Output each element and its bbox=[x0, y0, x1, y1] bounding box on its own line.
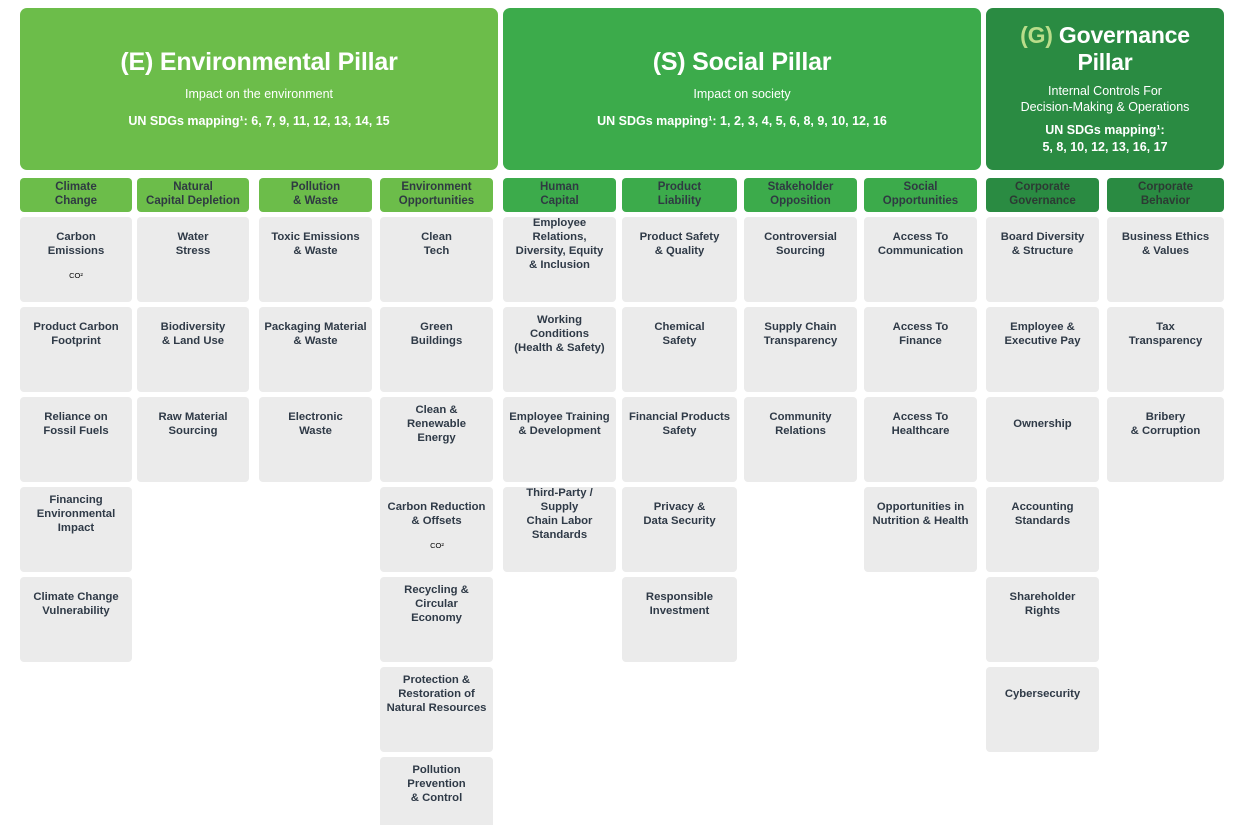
category-header-line: Environment bbox=[399, 181, 474, 195]
training-podium-icon bbox=[545, 441, 575, 471]
theme-cell[interactable]: Product Safety& Quality bbox=[622, 217, 737, 302]
pillar-banner-governance: (G) Governance Pillar Internal Controls … bbox=[986, 8, 1224, 170]
pillar-banners: (E) Environmental Pillar Impact on the e… bbox=[0, 0, 1243, 170]
e-waste-icon bbox=[301, 441, 331, 471]
document-list-icon bbox=[1028, 531, 1058, 561]
theme-label: Recycling & CircularEconomy bbox=[385, 583, 488, 625]
category-header[interactable]: CorporateGovernance bbox=[986, 178, 1099, 212]
cheque-pen-icon bbox=[1028, 351, 1058, 381]
mining-cart-icon bbox=[178, 441, 208, 471]
handshake-icon bbox=[665, 621, 695, 651]
theme-cell[interactable]: Business Ethics& Values bbox=[1107, 217, 1224, 302]
theme-label: Carbon Reduction& Offsets bbox=[388, 500, 486, 528]
category-column-product-liability: ProductLiabilityProduct Safety& QualityC… bbox=[622, 178, 737, 667]
theme-label-line: Chain Labor bbox=[508, 514, 611, 528]
plastic-bottle-icon bbox=[301, 351, 331, 381]
theme-cell[interactable]: ElectronicWaste bbox=[259, 397, 372, 482]
theme-label: Product Safety& Quality bbox=[640, 230, 720, 258]
category-header-line: Climate bbox=[55, 181, 97, 195]
theme-label: Employee &Executive Pay bbox=[1005, 320, 1081, 348]
theme-label-line: (Health & Safety) bbox=[508, 341, 611, 355]
theme-label-line: Product Carbon bbox=[33, 320, 118, 334]
theme-label-line: Ownership bbox=[1013, 417, 1071, 431]
theme-cell[interactable]: ControversialSourcing bbox=[744, 217, 857, 302]
category-column-environment-opportunities: EnvironmentOpportunitiesCleanTechGreenBu… bbox=[380, 178, 493, 825]
factory-cloud-icon bbox=[422, 808, 452, 825]
category-column-climate-change: ClimateChangeCarbonEmissionsCO²Product C… bbox=[20, 178, 132, 667]
theme-cell[interactable]: Toxic Emissions& Waste bbox=[259, 217, 372, 302]
category-header-line: Corporate bbox=[1138, 181, 1193, 195]
scales-icon bbox=[1151, 261, 1181, 291]
theme-label-line: Transparency bbox=[1129, 334, 1202, 348]
people-network-icon bbox=[545, 545, 575, 575]
theme-cell[interactable]: Bribery& Corruption bbox=[1107, 397, 1224, 482]
theme-label-line: Relations bbox=[769, 424, 831, 438]
category-header-line: & Waste bbox=[291, 195, 340, 209]
category-column-social-opportunities: SocialOpportunitiesAccess ToCommunicatio… bbox=[864, 178, 977, 577]
theme-cell[interactable]: Employee Training& Development bbox=[503, 397, 616, 482]
theme-label-line: Vulnerability bbox=[33, 604, 118, 618]
car-exhaust-icon bbox=[301, 261, 331, 291]
trees-icon bbox=[178, 351, 208, 381]
theme-label-line: Tax bbox=[1129, 320, 1202, 334]
pillar-sdg-environmental: UN SDGs mapping¹: 6, 7, 9, 11, 12, 13, 1… bbox=[128, 113, 389, 130]
theme-label-line: & Waste bbox=[271, 244, 359, 258]
theme-cell[interactable]: WaterStress bbox=[137, 217, 249, 302]
theme-label-line: Responsible bbox=[646, 590, 713, 604]
theme-label: Third-Party / SupplyChain LaborStandards bbox=[508, 486, 611, 542]
category-header[interactable]: StakeholderOpposition bbox=[744, 178, 857, 212]
theme-cell[interactable]: ChemicalSafety bbox=[622, 307, 737, 392]
theme-label: ShareholderRights bbox=[1010, 590, 1076, 618]
theme-label-line: Business Ethics bbox=[1122, 230, 1209, 244]
pillar-subtitle-governance-line2: Decision-Making & Operations bbox=[1021, 99, 1190, 115]
theme-label-line: Sourcing bbox=[158, 424, 227, 438]
theme-label-line: Financial Products bbox=[629, 410, 730, 424]
theme-label-line: Green bbox=[411, 320, 462, 334]
theme-label-line: Emissions bbox=[48, 244, 105, 258]
pillar-sdg-governance: UN SDGs mapping¹: 5, 8, 10, 12, 13, 16, … bbox=[1042, 122, 1167, 156]
category-header-line: Liability bbox=[658, 195, 701, 209]
theme-label-line: Protection & bbox=[387, 673, 487, 687]
theme-label-line: Opportunities in bbox=[872, 500, 968, 514]
pillar-subtitle-governance-line1: Internal Controls For bbox=[1021, 83, 1190, 99]
theme-label: Reliance onFossil Fuels bbox=[43, 410, 108, 438]
svg-text:CO²: CO² bbox=[430, 541, 444, 550]
theme-label: Ownership bbox=[1013, 417, 1071, 431]
theme-cell[interactable]: CleanTech bbox=[380, 217, 493, 302]
co2-cloud-icon: CO² bbox=[422, 531, 452, 561]
theme-label-line: Standards bbox=[1011, 514, 1073, 528]
theme-cell[interactable]: Product CarbonFootprint bbox=[20, 307, 132, 392]
theme-label-line: Restoration of bbox=[387, 687, 487, 701]
esg-framework-diagram: (E) Environmental Pillar Impact on the e… bbox=[0, 0, 1243, 825]
theme-label: Bribery& Corruption bbox=[1131, 410, 1201, 438]
theme-cell[interactable]: Cybersecurity bbox=[986, 667, 1099, 752]
theme-label-line: & Structure bbox=[1001, 244, 1085, 258]
category-header-line: Change bbox=[55, 195, 97, 209]
theme-cell[interactable]: AccountingStandards bbox=[986, 487, 1099, 572]
theme-label-line: Water bbox=[176, 230, 211, 244]
category-header[interactable]: CorporateBehavior bbox=[1107, 178, 1224, 212]
theme-cell[interactable]: Biodiversity& Land Use bbox=[137, 307, 249, 392]
footprint-icon bbox=[61, 351, 91, 381]
pillar-banner-environmental: (E) Environmental Pillar Impact on the e… bbox=[20, 8, 498, 170]
theme-label-line: Board Diversity bbox=[1001, 230, 1085, 244]
theme-label-line: Shareholder bbox=[1010, 590, 1076, 604]
theme-label-line: & Waste bbox=[264, 334, 366, 348]
category-header-line: Governance bbox=[1009, 195, 1075, 209]
pillar-title-environmental: (E) Environmental Pillar bbox=[120, 48, 397, 77]
category-header-line: Capital Depletion bbox=[146, 195, 240, 209]
theme-label: ChemicalSafety bbox=[654, 320, 704, 348]
pillar-title-text-e: Environmental Pillar bbox=[160, 48, 398, 76]
theme-label-line: Executive Pay bbox=[1005, 334, 1081, 348]
category-column-pollution-waste: Pollution& WasteToxic Emissions& WastePa… bbox=[259, 178, 372, 487]
theme-label: Privacy &Data Security bbox=[643, 500, 715, 528]
pillar-title-text-g: Governance Pillar bbox=[1059, 22, 1190, 75]
theme-label-line: Chemical bbox=[654, 320, 704, 334]
category-header[interactable]: HumanCapital bbox=[503, 178, 616, 212]
two-people-icon bbox=[1028, 261, 1058, 291]
pillar-mark-e: (E) bbox=[120, 48, 153, 76]
theme-label: Working Conditions(Health & Safety) bbox=[508, 313, 611, 355]
theme-label: Packaging Material& Waste bbox=[264, 320, 366, 348]
theme-label-line: & Control bbox=[385, 791, 488, 805]
pillar-sdg-social: UN SDGs mapping¹: 1, 2, 3, 4, 5, 6, 8, 9… bbox=[597, 113, 887, 130]
theme-label-line: Diversity, Equity bbox=[508, 244, 611, 258]
theme-label-line: Environmental bbox=[37, 507, 115, 521]
gavel-icon bbox=[1151, 441, 1181, 471]
theme-label-line: Investment bbox=[646, 604, 713, 618]
water-droplet-icon bbox=[178, 261, 208, 291]
factory-smokestack-icon bbox=[61, 441, 91, 471]
theme-cell[interactable]: Board Diversity& Structure bbox=[986, 217, 1099, 302]
theme-cell[interactable]: ShareholderRights bbox=[986, 577, 1099, 662]
theme-cell[interactable]: Pollution Prevention& Control bbox=[380, 757, 493, 825]
theme-cell[interactable]: TaxTransparency bbox=[1107, 307, 1224, 392]
theme-cell[interactable]: Clean & RenewableEnergy bbox=[380, 397, 493, 482]
theme-cell[interactable]: GreenBuildings bbox=[380, 307, 493, 392]
theme-cell[interactable]: Supply ChainTransparency bbox=[744, 307, 857, 392]
theme-label-line: Communication bbox=[878, 244, 963, 258]
theme-label-line: Pollution Prevention bbox=[385, 763, 488, 791]
sprout-bulb-icon bbox=[422, 261, 452, 291]
category-header-line: Capital bbox=[540, 195, 579, 209]
pillar-banner-social: (S) Social Pillar Impact on society UN S… bbox=[503, 8, 981, 170]
theme-label: Employee Training& Development bbox=[509, 410, 609, 438]
category-header-line: Human bbox=[540, 181, 579, 195]
theme-label-line: Reliance on bbox=[43, 410, 108, 424]
theme-label-line: & Land Use bbox=[161, 334, 226, 348]
money-coins-icon bbox=[61, 538, 91, 568]
category-header[interactable]: NaturalCapital Depletion bbox=[137, 178, 249, 212]
theme-label-line: & Offsets bbox=[388, 514, 486, 528]
magnifier-icon bbox=[786, 351, 816, 381]
theme-label-line: Electronic bbox=[288, 410, 343, 424]
svg-text:CO²: CO² bbox=[69, 271, 83, 280]
category-column-natural-capital-depletion: NaturalCapital DepletionWaterStressBiodi… bbox=[137, 178, 249, 487]
solar-panel-icon bbox=[422, 448, 452, 478]
theme-label-line: & Values bbox=[1122, 244, 1209, 258]
theme-label: CleanTech bbox=[421, 230, 452, 258]
theme-label-line: Natural Resources bbox=[387, 701, 487, 715]
theme-label: Opportunities inNutrition & Health bbox=[872, 500, 968, 528]
green-house-icon bbox=[422, 351, 452, 381]
category-header-line: Product bbox=[658, 181, 701, 195]
theme-cell[interactable]: Recycling & CircularEconomy bbox=[380, 577, 493, 662]
category-header-line: Opportunities bbox=[399, 195, 474, 209]
recycle-icon bbox=[422, 628, 452, 658]
theme-label: Clean & RenewableEnergy bbox=[385, 403, 488, 445]
theme-label-line: & Quality bbox=[640, 244, 720, 258]
check-circle-icon bbox=[665, 261, 695, 291]
theme-label: Biodiversity& Land Use bbox=[161, 320, 226, 348]
theme-label: AccountingStandards bbox=[1011, 500, 1073, 528]
category-header[interactable]: ProductLiability bbox=[622, 178, 737, 212]
theme-label-line: Standards bbox=[508, 528, 611, 542]
theme-cell[interactable]: Opportunities inNutrition & Health bbox=[864, 487, 977, 572]
hand-sprout-icon bbox=[61, 621, 91, 651]
theme-label-line: Supply Chain bbox=[764, 320, 837, 334]
theme-label-line: Privacy & bbox=[643, 500, 715, 514]
people-group-icon bbox=[545, 275, 575, 305]
theme-label: Business Ethics& Values bbox=[1122, 230, 1209, 258]
theme-label-line: Stress bbox=[176, 244, 211, 258]
theme-label-line: Access To bbox=[893, 320, 949, 334]
theme-label: Climate ChangeVulnerability bbox=[33, 590, 118, 618]
theme-label-line: Recycling & Circular bbox=[385, 583, 488, 611]
pillar-title-social: (S) Social Pillar bbox=[653, 48, 832, 77]
theme-label: CommunityRelations bbox=[769, 410, 831, 438]
theme-label-line: Impact bbox=[37, 521, 115, 535]
hand-globe-icon bbox=[422, 718, 452, 748]
theme-label-line: Healthcare bbox=[892, 424, 950, 438]
pillar-subtitle-governance: Internal Controls For Decision-Making & … bbox=[1021, 83, 1190, 116]
theme-label: Access ToFinance bbox=[893, 320, 949, 348]
theme-label-line: Toxic Emissions bbox=[271, 230, 359, 244]
theme-label: TaxTransparency bbox=[1129, 320, 1202, 348]
theme-label-line: Safety bbox=[629, 424, 730, 438]
theme-label-line: & Development bbox=[509, 424, 609, 438]
theme-label: Access ToCommunication bbox=[878, 230, 963, 258]
category-header-line: Opposition bbox=[768, 195, 834, 209]
theme-label: Pollution Prevention& Control bbox=[385, 763, 488, 805]
category-header[interactable]: Pollution& Waste bbox=[259, 178, 372, 212]
theme-label: ElectronicWaste bbox=[288, 410, 343, 438]
theme-label-line: Energy bbox=[385, 431, 488, 445]
eco-factory-icon bbox=[665, 351, 695, 381]
theme-label-line: & Corruption bbox=[1131, 424, 1201, 438]
pillar-mark-g: (G) bbox=[1020, 22, 1053, 48]
theme-label: Board Diversity& Structure bbox=[1001, 230, 1085, 258]
theme-cell[interactable]: Climate ChangeVulnerability bbox=[20, 577, 132, 662]
theme-label-line: Climate Change bbox=[33, 590, 118, 604]
theme-cell[interactable]: Privacy &Data Security bbox=[622, 487, 737, 572]
theme-label-line: & Inclusion bbox=[508, 258, 611, 272]
theme-label: CarbonEmissions bbox=[48, 230, 105, 258]
category-header-line: Opportunities bbox=[883, 195, 958, 209]
stethoscope-icon bbox=[906, 531, 936, 561]
theme-cell[interactable]: Carbon Reduction& OffsetsCO² bbox=[380, 487, 493, 572]
category-column-corporate-governance: CorporateGovernanceBoard Diversity& Stru… bbox=[986, 178, 1099, 757]
theme-label: Employee Relations,Diversity, Equity& In… bbox=[508, 216, 611, 272]
theme-label-line: Finance bbox=[893, 334, 949, 348]
theme-label-line: Sourcing bbox=[764, 244, 837, 258]
theme-label-line: Transparency bbox=[764, 334, 837, 348]
theme-label-line: Safety bbox=[654, 334, 704, 348]
theme-cell[interactable]: ResponsibleInvestment bbox=[622, 577, 737, 662]
theme-cell[interactable]: Third-Party / SupplyChain LaborStandards bbox=[503, 487, 616, 572]
theme-label-line: Rights bbox=[1010, 604, 1076, 618]
theme-label-line: Financing bbox=[37, 493, 115, 507]
person-flag-icon bbox=[1028, 434, 1058, 464]
theme-label-line: Working Conditions bbox=[508, 313, 611, 341]
theme-label-line: Data Security bbox=[643, 514, 715, 528]
community-icon bbox=[786, 441, 816, 471]
theme-cell[interactable]: Employee &Executive Pay bbox=[986, 307, 1099, 392]
shield-lock-icon bbox=[1028, 704, 1058, 734]
medical-cross-icon bbox=[906, 441, 936, 471]
theme-label-line: Fossil Fuels bbox=[43, 424, 108, 438]
theme-cell[interactable]: Reliance onFossil Fuels bbox=[20, 397, 132, 482]
pillar-subtitle-environmental: Impact on the environment bbox=[185, 86, 333, 102]
pillar-subtitle-social: Impact on society bbox=[693, 86, 790, 102]
theme-label: Product CarbonFootprint bbox=[33, 320, 118, 348]
theme-label-line: Bribery bbox=[1131, 410, 1201, 424]
theme-label-line: Carbon bbox=[48, 230, 105, 244]
pillar-mark-s: (S) bbox=[653, 48, 686, 76]
theme-cell[interactable]: Employee Relations,Diversity, Equity& In… bbox=[503, 217, 616, 302]
theme-label-line: Third-Party / Supply bbox=[508, 486, 611, 514]
theme-label: Financial ProductsSafety bbox=[629, 410, 730, 438]
theme-label-line: Access To bbox=[878, 230, 963, 244]
category-column-stakeholder-opposition: StakeholderOppositionControversialSourci… bbox=[744, 178, 857, 487]
megaphone-icon bbox=[906, 261, 936, 291]
theme-cell[interactable]: Protection &Restoration ofNatural Resour… bbox=[380, 667, 493, 752]
theme-label-line: Product Safety bbox=[640, 230, 720, 244]
category-header[interactable]: ClimateChange bbox=[20, 178, 132, 212]
theme-cell[interactable]: Packaging Material& Waste bbox=[259, 307, 372, 392]
theme-label-line: Biodiversity bbox=[161, 320, 226, 334]
theme-label: Cybersecurity bbox=[1005, 687, 1080, 701]
category-header-line: Corporate bbox=[1009, 181, 1075, 195]
theme-cell[interactable]: CommunityRelations bbox=[744, 397, 857, 482]
category-header-line: Stakeholder bbox=[768, 181, 834, 195]
theme-label-line: Clean & Renewable bbox=[385, 403, 488, 431]
theme-label: Raw MaterialSourcing bbox=[158, 410, 227, 438]
shield-icon bbox=[665, 531, 695, 561]
theme-label-line: Economy bbox=[385, 611, 488, 625]
theme-label: ResponsibleInvestment bbox=[646, 590, 713, 618]
theme-label-line: Raw Material bbox=[158, 410, 227, 424]
theme-label-line: Footprint bbox=[33, 334, 118, 348]
theme-label: ControversialSourcing bbox=[764, 230, 837, 258]
pillar-title-governance: (G) Governance Pillar bbox=[996, 22, 1214, 75]
theme-cell[interactable]: Access ToFinance bbox=[864, 307, 977, 392]
theme-label-line: Packaging Material bbox=[264, 320, 366, 334]
theme-label-line: Community bbox=[769, 410, 831, 424]
piggy-bank-icon bbox=[665, 441, 695, 471]
theme-label: Supply ChainTransparency bbox=[764, 320, 837, 348]
theme-label-line: Tech bbox=[421, 244, 452, 258]
theme-label: Protection &Restoration ofNatural Resour… bbox=[387, 673, 487, 715]
theme-label: GreenBuildings bbox=[411, 320, 462, 348]
theme-label-line: Employee Relations, bbox=[508, 216, 611, 244]
theme-label: Access ToHealthcare bbox=[892, 410, 950, 438]
category-header[interactable]: EnvironmentOpportunities bbox=[380, 178, 493, 212]
theme-cell[interactable]: Access ToHealthcare bbox=[864, 397, 977, 482]
theme-label-line: Accounting bbox=[1011, 500, 1073, 514]
category-header[interactable]: SocialOpportunities bbox=[864, 178, 977, 212]
theme-label-line: Nutrition & Health bbox=[872, 514, 968, 528]
theme-label-line: Clean bbox=[421, 230, 452, 244]
theme-label-line: Employee & bbox=[1005, 320, 1081, 334]
theme-label-line: Carbon Reduction bbox=[388, 500, 486, 514]
theme-label: WaterStress bbox=[176, 230, 211, 258]
theme-label: FinancingEnvironmentalImpact bbox=[37, 493, 115, 535]
theme-label-line: Access To bbox=[892, 410, 950, 424]
theme-cell[interactable]: Raw MaterialSourcing bbox=[137, 397, 249, 482]
theme-label-line: Cybersecurity bbox=[1005, 687, 1080, 701]
theme-cell[interactable]: Financial ProductsSafety bbox=[622, 397, 737, 482]
theme-label-line: Controversial bbox=[764, 230, 837, 244]
category-header-line: Behavior bbox=[1138, 195, 1193, 209]
category-header-line: Pollution bbox=[291, 181, 340, 195]
map-pin-icon bbox=[786, 261, 816, 291]
theme-cell[interactable]: CarbonEmissionsCO² bbox=[20, 217, 132, 302]
category-column-corporate-behavior: CorporateBehaviorBusiness Ethics& Values… bbox=[1107, 178, 1224, 487]
theme-label-line: Waste bbox=[288, 424, 343, 438]
theme-cell[interactable]: FinancingEnvironmentalImpact bbox=[20, 487, 132, 572]
theme-cell[interactable]: Ownership bbox=[986, 397, 1099, 482]
theme-label-line: Employee Training bbox=[509, 410, 609, 424]
theme-cell[interactable]: Working Conditions(Health & Safety) bbox=[503, 307, 616, 392]
pillar-sdg-governance-line1: UN SDGs mapping¹: bbox=[1042, 122, 1167, 139]
category-header-line: Natural bbox=[146, 181, 240, 195]
theme-cell[interactable]: Access ToCommunication bbox=[864, 217, 977, 302]
worker-check-icon bbox=[545, 358, 575, 388]
category-header-line: Social bbox=[883, 181, 958, 195]
theme-label-line: Buildings bbox=[411, 334, 462, 348]
co2-cloud-icon: CO² bbox=[61, 261, 91, 291]
theme-label: Toxic Emissions& Waste bbox=[271, 230, 359, 258]
person-sliders-icon bbox=[1028, 621, 1058, 651]
pillar-title-text-s: Social Pillar bbox=[692, 48, 831, 76]
pillar-sdg-governance-line2: 5, 8, 10, 12, 13, 16, 17 bbox=[1042, 139, 1167, 156]
person-dollar-icon bbox=[906, 351, 936, 381]
money-bag-icon bbox=[1151, 351, 1181, 381]
category-column-human-capital: HumanCapitalEmployee Relations,Diversity… bbox=[503, 178, 616, 577]
